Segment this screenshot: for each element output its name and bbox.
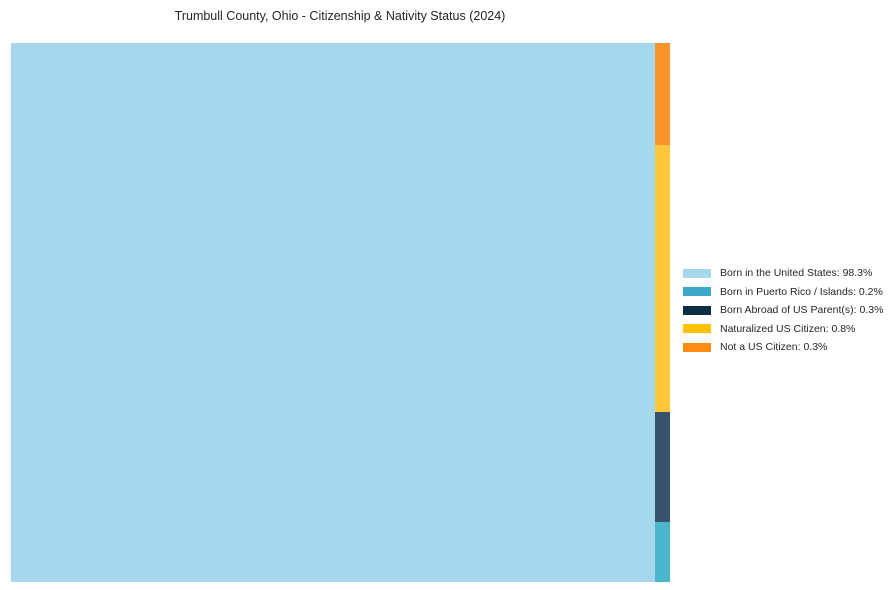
chart-title: Trumbull County, Ohio - Citizenship & Na… bbox=[0, 9, 680, 24]
legend-swatch-icon bbox=[683, 343, 711, 352]
legend-swatch-icon bbox=[683, 324, 711, 333]
legend-item-label: Born in the United States: 98.3% bbox=[720, 267, 872, 279]
legend-item-naturalized-us-citizen[interactable]: Naturalized US Citizen: 0.8% bbox=[683, 320, 883, 339]
legend-swatch-icon bbox=[683, 269, 711, 278]
legend-item-born-in-the-united-states[interactable]: Born in the United States: 98.3% bbox=[683, 264, 883, 283]
legend-item-label: Born Abroad of US Parent(s): 0.3% bbox=[720, 304, 883, 316]
legend-item-born-in-puerto-rico-islands[interactable]: Born in Puerto Rico / Islands: 0.2% bbox=[683, 283, 883, 302]
legend-item-label: Not a US Citizen: 0.3% bbox=[720, 341, 827, 353]
treemap-tile-naturalized-us-citizen[interactable] bbox=[655, 145, 670, 412]
legend-item-born-abroad-of-us-parent-s[interactable]: Born Abroad of US Parent(s): 0.3% bbox=[683, 301, 883, 320]
legend-swatch-icon bbox=[683, 287, 711, 296]
treemap-plot-area bbox=[11, 43, 670, 582]
chart-legend: Born in the United States: 98.3% Born in… bbox=[683, 264, 883, 357]
legend-item-label: Born in Puerto Rico / Islands: 0.2% bbox=[720, 286, 883, 298]
legend-item-label: Naturalized US Citizen: 0.8% bbox=[720, 323, 855, 335]
treemap-tile-born-in-puerto-rico-islands[interactable] bbox=[655, 522, 670, 582]
legend-item-not-a-us-citizen[interactable]: Not a US Citizen: 0.3% bbox=[683, 338, 883, 357]
legend-swatch-icon bbox=[683, 306, 711, 315]
treemap-tile-born-in-the-united-states[interactable] bbox=[11, 43, 655, 582]
treemap-tile-not-a-us-citizen[interactable] bbox=[655, 43, 670, 145]
treemap-tile-born-abroad-of-us-parent-s[interactable] bbox=[655, 412, 670, 522]
